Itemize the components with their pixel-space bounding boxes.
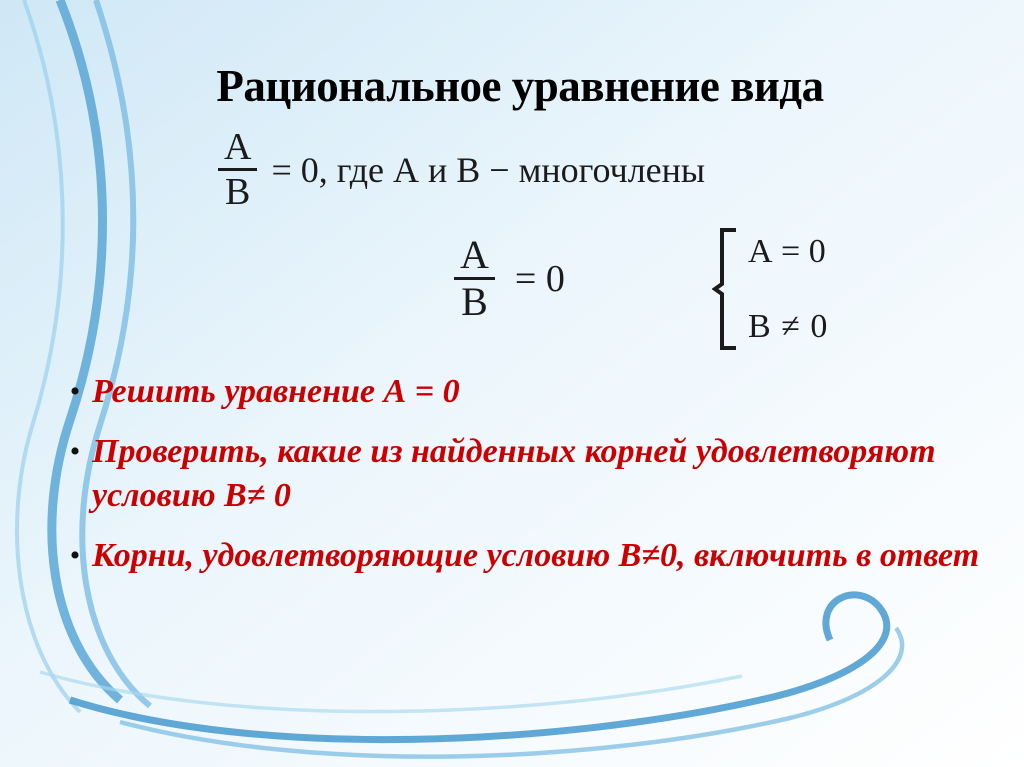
fraction-a-over-b-secondary: A B <box>454 235 495 322</box>
bullet-list: • Решить уравнение А = 0 • Проверить, ка… <box>58 370 988 594</box>
fraction-denominator: B <box>455 280 494 322</box>
fraction-numerator: A <box>454 235 495 277</box>
bullet-icon: • <box>58 534 92 578</box>
list-item: • Решить уравнение А = 0 <box>58 370 988 414</box>
system-equations: А = 0 В ≠ 0 <box>748 233 828 345</box>
list-item: • Проверить, какие из найденных корней у… <box>58 430 988 518</box>
bullet-text: Корни, удовлетворяющие условию В≠0, вклю… <box>92 534 988 578</box>
equation-system: А = 0 В ≠ 0 <box>712 228 828 350</box>
formula-main: A B = 0, где А и В − многочлены <box>214 128 705 211</box>
system-line-1: А = 0 <box>748 233 828 270</box>
fraction-denominator: B <box>219 171 256 211</box>
bullet-text: Проверить, какие из найденных корней удо… <box>92 430 988 518</box>
bullet-text: Решить уравнение А = 0 <box>92 370 988 414</box>
left-curly-brace-icon <box>712 228 738 350</box>
fraction-numerator: A <box>218 128 257 168</box>
system-line-2: В ≠ 0 <box>748 308 828 345</box>
fraction-a-over-b: A B <box>218 128 257 211</box>
slide: Рациональное уравнение вида A B = 0, где… <box>0 0 1024 767</box>
list-item: • Корни, удовлетворяющие условию В≠0, вк… <box>58 534 988 578</box>
formula-main-text: = 0, где А и В − многочлены <box>271 149 705 191</box>
bullet-icon: • <box>58 370 92 414</box>
slide-content: Рациональное уравнение вида A B = 0, где… <box>0 0 1024 767</box>
formula-secondary: A B = 0 <box>450 235 565 322</box>
equals-zero-text: = 0 <box>515 257 565 301</box>
page-title: Рациональное уравнение вида <box>70 60 970 112</box>
bullet-icon: • <box>58 430 92 474</box>
